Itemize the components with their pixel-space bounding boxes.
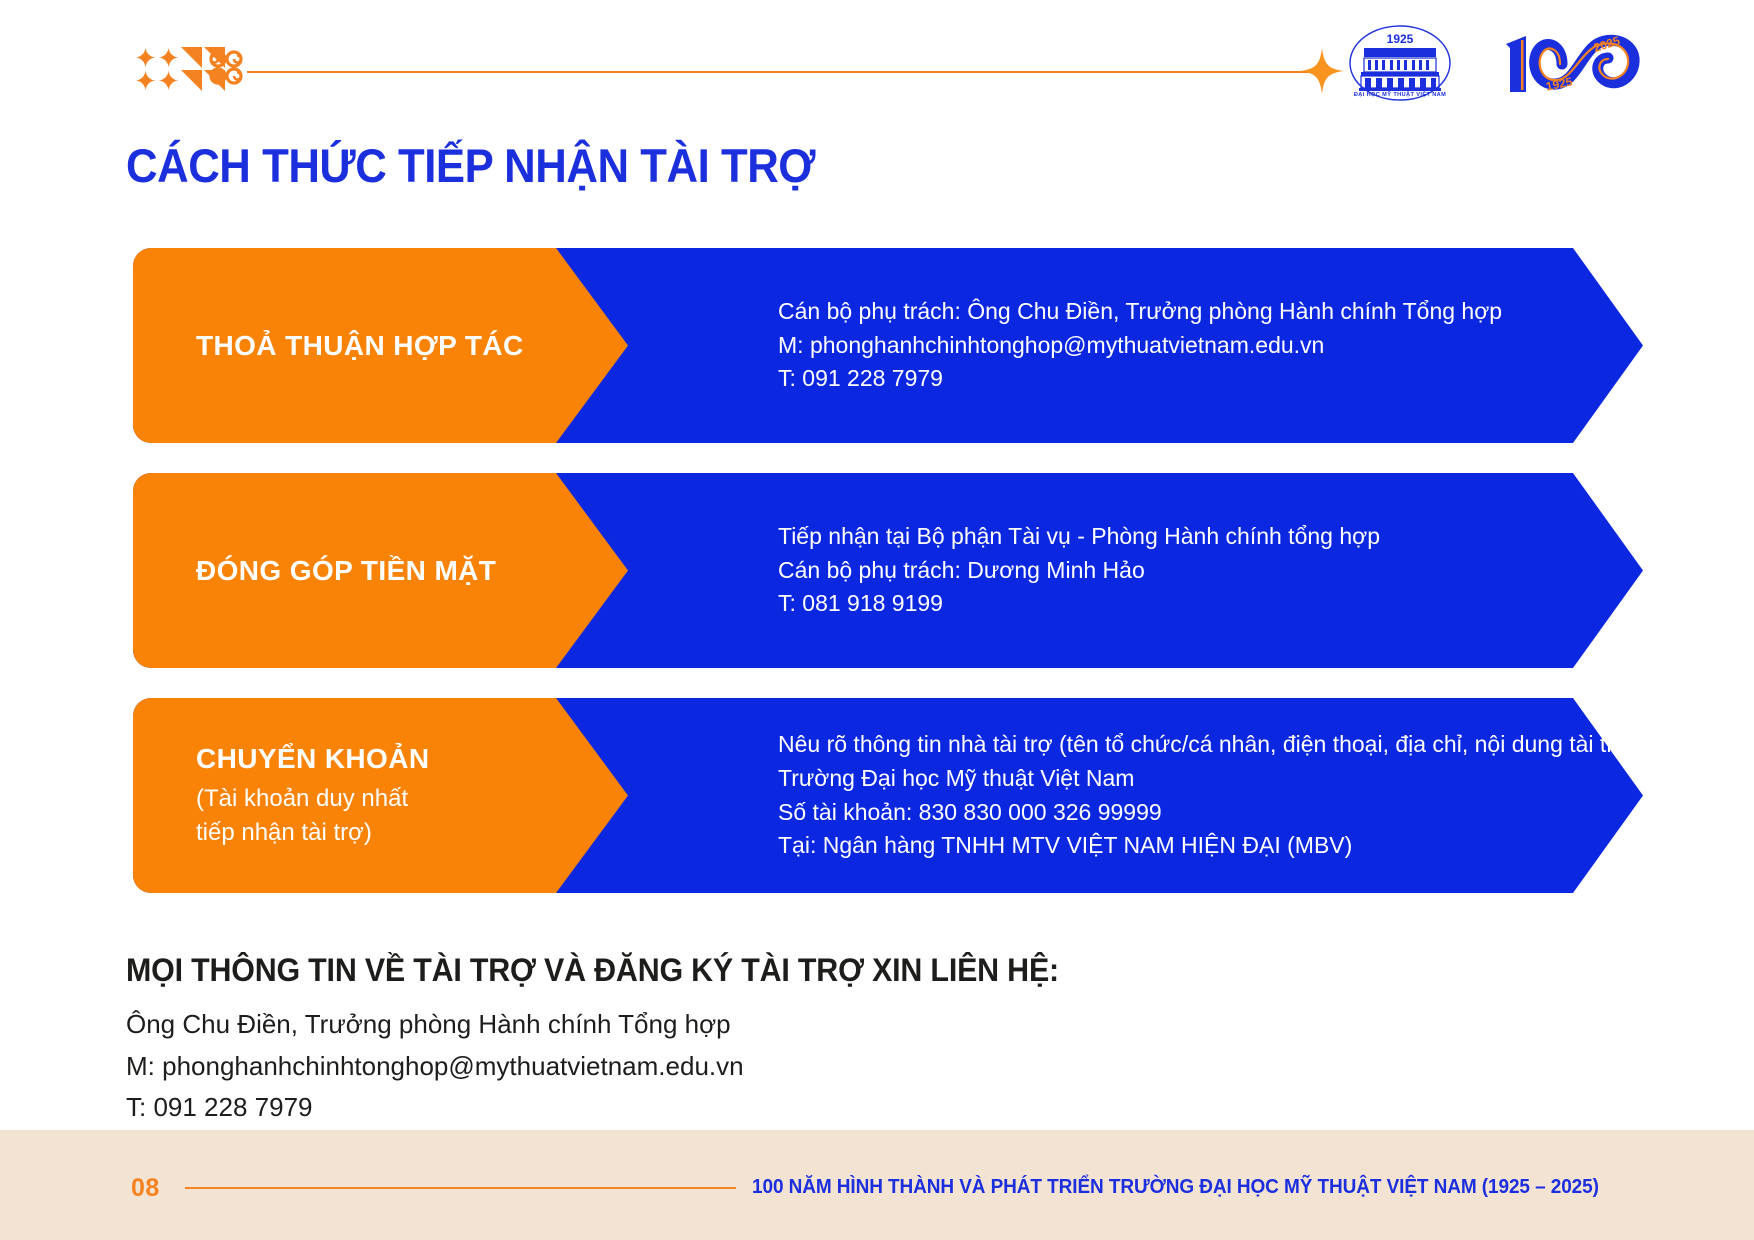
- row-title: CHUYỂN KHOẢN: [196, 741, 628, 776]
- funding-method-row[interactable]: THOẢ THUẬN HỢP TÁC Cán bộ phụ trách: Ông…: [133, 248, 1643, 443]
- header-divider-line: [247, 71, 1319, 73]
- four-point-star-icon: [1300, 48, 1344, 94]
- row-details: Tiếp nhận tại Bộ phận Tài vụ - Phòng Hàn…: [778, 473, 1380, 668]
- funding-method-row[interactable]: CHUYỂN KHOẢN (Tài khoản duy nhất tiếp nh…: [133, 698, 1643, 893]
- row-detail-line: Tiếp nhận tại Bộ phận Tài vụ - Phòng Hàn…: [778, 520, 1380, 554]
- cloud-spiral-motif-icon: [203, 45, 249, 91]
- row-detail-line: Nêu rõ thông tin nhà tài trợ (tên tổ chứ…: [778, 728, 1643, 762]
- funding-methods-list: THOẢ THUẬN HỢP TÁC Cán bộ phụ trách: Ông…: [133, 248, 1643, 923]
- row-detail-line: Tại: Ngân hàng TNHH MTV VIỆT NAM HIỆN ĐẠ…: [778, 829, 1643, 863]
- contact-line: M: phonghanhchinhtonghop@mythuatvietnam.…: [126, 1047, 1108, 1087]
- row-title: ĐÓNG GÓP TIỀN MẶT: [196, 553, 628, 588]
- funding-method-row[interactable]: ĐÓNG GÓP TIỀN MẶT Tiếp nhận tại Bộ phận …: [133, 473, 1643, 668]
- page-title: CÁCH THỨC TIẾP NHẬN TÀI TRỢ: [126, 138, 815, 193]
- row-detail-line: Số tài khoản: 830 830 000 326 99999: [778, 796, 1643, 830]
- row-details: Nêu rõ thông tin nhà tài trợ (tên tổ chứ…: [778, 698, 1643, 893]
- 100-years-anniversary-logo: 1925 2025: [1496, 26, 1644, 100]
- row-detail-line: Cán bộ phụ trách: Dương Minh Hảo: [778, 554, 1380, 588]
- contact-line: Ông Chu Điền, Trưởng phòng Hành chính Tổ…: [126, 1005, 1108, 1045]
- row-subtitle: (Tài khoản duy nhất tiếp nhận tài trợ): [196, 782, 628, 850]
- row-detail-line: Trường Đại học Mỹ thuật Việt Nam: [778, 762, 1643, 796]
- svg-text:ĐẠI HỌC MỸ THUẬT VIỆT NAM: ĐẠI HỌC MỸ THUẬT VIỆT NAM: [1354, 90, 1446, 98]
- footer-divider-line: [185, 1187, 736, 1189]
- row-orange-label: ĐÓNG GÓP TIỀN MẶT: [133, 473, 628, 668]
- row-detail-line: M: phonghanhchinhtonghop@mythuatvietnam.…: [778, 329, 1502, 363]
- contact-lines: Ông Chu Điền, Trưởng phòng Hành chính Tổ…: [126, 1005, 1108, 1128]
- university-crest-logo: 1925: [1348, 24, 1452, 102]
- row-details: Cán bộ phụ trách: Ông Chu Điền, Trưởng p…: [778, 248, 1502, 443]
- contact-line: T: 091 228 7979: [126, 1088, 1108, 1128]
- row-title: THOẢ THUẬN HỢP TÁC: [196, 328, 628, 363]
- contact-heading: MỌI THÔNG TIN VỀ TÀI TRỢ VÀ ĐĂNG KÝ TÀI …: [126, 952, 1059, 989]
- row-orange-label: CHUYỂN KHOẢN (Tài khoản duy nhất tiếp nh…: [133, 698, 628, 893]
- svg-text:1925: 1925: [1545, 74, 1574, 93]
- page-footer: 08 100 NĂM HÌNH THÀNH VÀ PHÁT TRIỂN TRƯỜ…: [0, 1130, 1754, 1240]
- svg-text:1925: 1925: [1387, 32, 1414, 46]
- row-orange-label: THOẢ THUẬN HỢP TÁC: [133, 248, 628, 443]
- contact-section: MỌI THÔNG TIN VỀ TÀI TRỢ VÀ ĐĂNG KÝ TÀI …: [126, 952, 1108, 1128]
- svg-text:2025: 2025: [1592, 33, 1622, 55]
- row-detail-line: Cán bộ phụ trách: Ông Chu Điền, Trưởng p…: [778, 295, 1502, 329]
- footer-page-number: 08: [131, 1174, 160, 1203]
- row-detail-line: T: 081 918 9199: [778, 587, 1380, 621]
- header-bar: 1925: [0, 0, 1754, 118]
- row-detail-line: T: 091 228 7979: [778, 362, 1502, 396]
- footer-text: 100 NĂM HÌNH THÀNH VÀ PHÁT TRIỂN TRƯỜNG …: [752, 1176, 1599, 1199]
